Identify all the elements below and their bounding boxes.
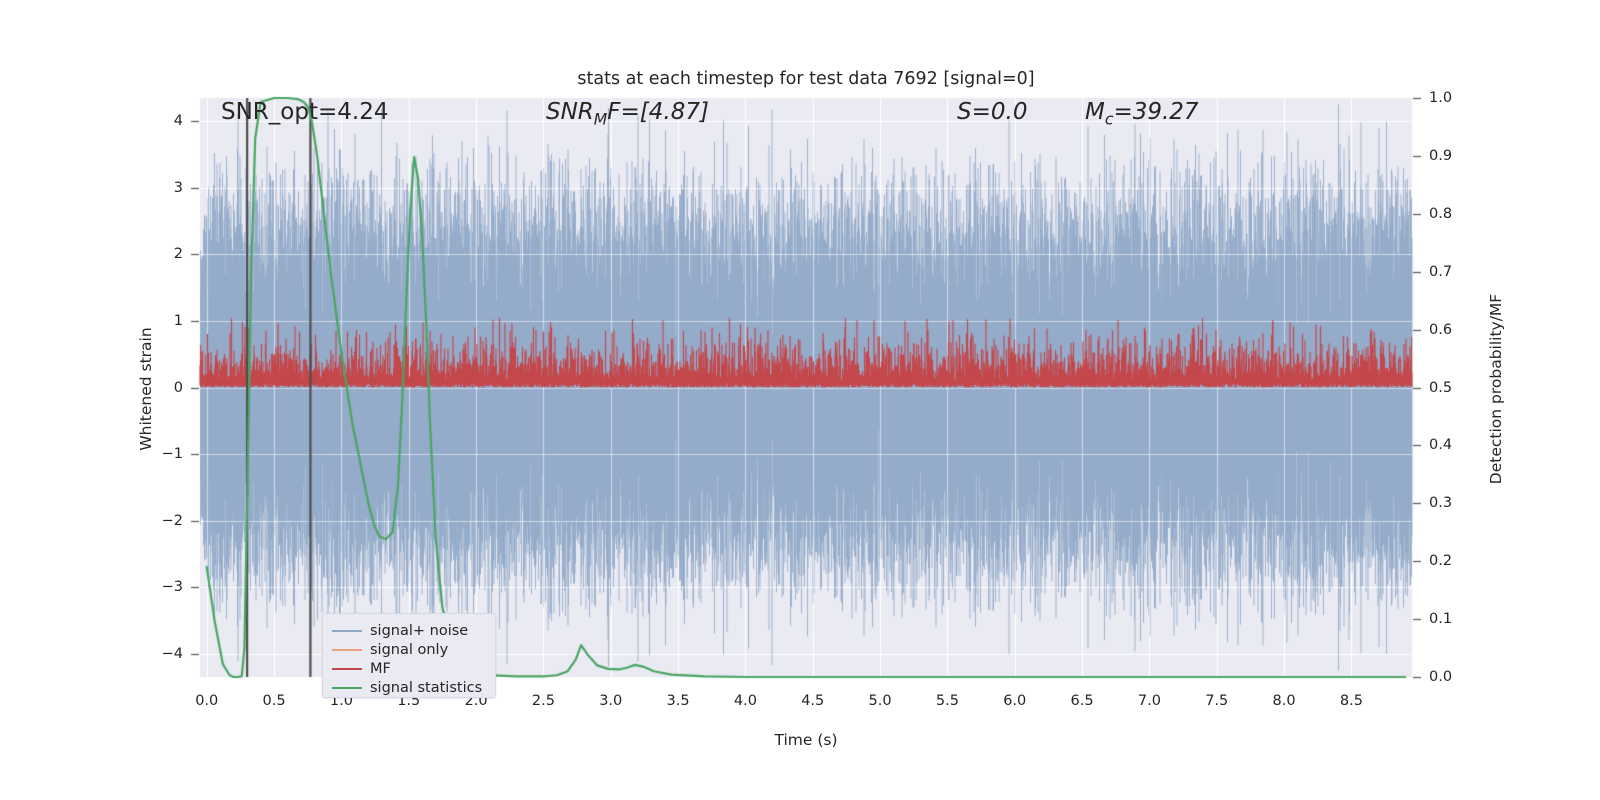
y-tick-label-right: 0.4 — [1429, 437, 1452, 453]
legend-item-label: signal statistics — [370, 680, 482, 696]
y-tick-label-right: 0.8 — [1429, 206, 1452, 222]
legend-item[interactable]: signal+ noise — [332, 621, 468, 641]
x-tick-label: 3.5 — [667, 693, 690, 709]
x-tick-label: 4.0 — [734, 693, 757, 709]
y-tick-label-left: 1 — [174, 313, 183, 329]
y-tick-label-right: 0.0 — [1429, 669, 1452, 685]
chart-plot-area — [0, 0, 1600, 800]
y-tick-label-right: 0.9 — [1429, 148, 1452, 164]
x-tick-label: 0.5 — [263, 693, 286, 709]
x-tick-label: 8.0 — [1273, 693, 1296, 709]
y-tick-label-left: 2 — [174, 246, 183, 262]
legend-color-swatch — [332, 687, 362, 689]
chart-legend[interactable]: signal+ noisesignal onlyMFsignal statist… — [322, 613, 496, 698]
y-tick-label-right: 0.6 — [1429, 322, 1452, 338]
y-tick-label-left: −1 — [162, 446, 183, 462]
legend-item[interactable]: signal only — [332, 640, 448, 660]
x-tick-label: 7.5 — [1205, 693, 1228, 709]
y-tick-label-left: −4 — [162, 646, 183, 662]
y-tick-label-left: 3 — [174, 180, 183, 196]
y-tick-label-right: 0.2 — [1429, 553, 1452, 569]
y-tick-label-right: 0.1 — [1429, 611, 1452, 627]
legend-color-swatch — [332, 630, 362, 632]
legend-item-label: signal+ noise — [370, 623, 468, 639]
legend-item-label: signal only — [370, 642, 448, 658]
legend-item-label: MF — [370, 661, 391, 677]
y-tick-label-right: 0.3 — [1429, 495, 1452, 511]
x-tick-label: 6.0 — [1003, 693, 1026, 709]
x-tick-label: 7.0 — [1138, 693, 1161, 709]
x-tick-label: 4.5 — [801, 693, 824, 709]
y-tick-label-left: 0 — [174, 380, 183, 396]
x-tick-label: 6.5 — [1071, 693, 1094, 709]
x-tick-label: 5.0 — [869, 693, 892, 709]
y-tick-label-left: 4 — [174, 113, 183, 129]
y-tick-label-right: 0.5 — [1429, 380, 1452, 396]
x-tick-label: 8.5 — [1340, 693, 1363, 709]
y-tick-label-right: 0.7 — [1429, 264, 1452, 280]
x-tick-label: 0.0 — [195, 693, 218, 709]
y-tick-label-left: −2 — [162, 513, 183, 529]
legend-item[interactable]: MF — [332, 659, 391, 679]
figure-canvas: stats at each timestep for test data 769… — [0, 0, 1600, 800]
x-tick-label: 2.5 — [532, 693, 555, 709]
legend-color-swatch — [332, 668, 362, 670]
x-tick-label: 3.0 — [599, 693, 622, 709]
legend-item[interactable]: signal statistics — [332, 678, 482, 698]
x-tick-label: 5.5 — [936, 693, 959, 709]
y-tick-label-right: 1.0 — [1429, 90, 1452, 106]
y-tick-label-left: −3 — [162, 579, 183, 595]
legend-color-swatch — [332, 649, 362, 651]
